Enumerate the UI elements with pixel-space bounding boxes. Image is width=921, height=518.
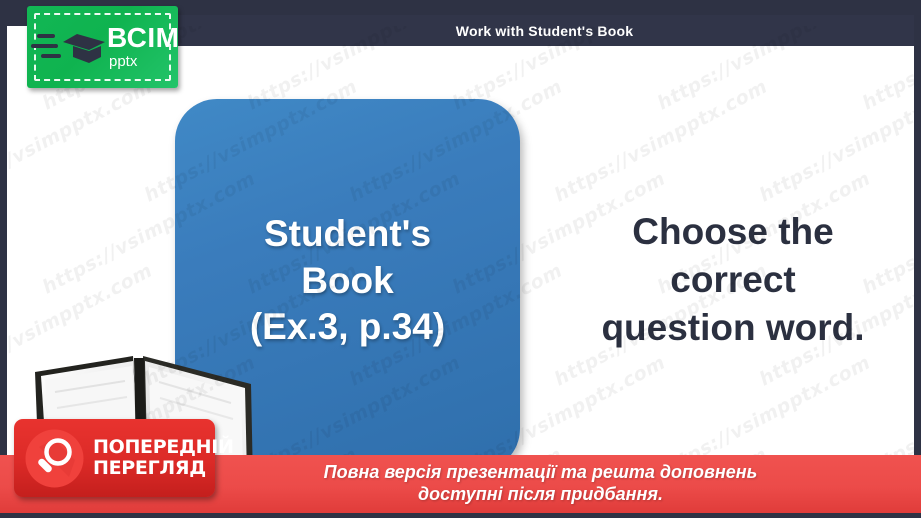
- watermark-text: https://vsimpptx.com: [756, 75, 914, 206]
- bottom-strip: [0, 513, 921, 518]
- card-line-3: (Ex.3, p.34): [250, 304, 445, 351]
- student-book-card-text: Student's Book (Ex.3, p.34): [250, 211, 445, 360]
- banner-line-2: доступні після придбання.: [324, 484, 758, 506]
- slide-frame: Student's Book (Ex.3, p.34) Choose the c…: [0, 0, 921, 518]
- card-line-1: Student's: [250, 211, 445, 258]
- watermark-text: https://vsimpptx.com: [7, 75, 156, 206]
- watermark-text: https://vsimpptx.com: [551, 75, 771, 206]
- prompt-line-3: question word.: [547, 304, 914, 352]
- preview-badge-labels: ПОПЕРЕДНІЙ ПЕРЕГЛЯД: [93, 437, 234, 478]
- graduation-cap-icon: [61, 30, 107, 66]
- slide-header-bar: Work with Student's Book: [175, 15, 914, 46]
- prompt-line-2: correct: [547, 256, 914, 304]
- preview-banner-text: Повна версія презентації та решта доповн…: [164, 462, 758, 506]
- slide-header-title: Work with Student's Book: [456, 23, 633, 39]
- logo-title: ВСІМ: [107, 24, 179, 52]
- logo-subtitle: pptx: [109, 54, 179, 69]
- prompt-line-1: Choose the: [547, 208, 914, 256]
- preview-badge[interactable]: ПОПЕРЕДНІЙ ПЕРЕГЛЯД: [14, 419, 215, 497]
- badge-line-1: ПОПЕРЕДНІЙ: [93, 437, 234, 458]
- badge-line-2: ПЕРЕГЛЯД: [93, 458, 234, 479]
- card-line-2: Book: [250, 258, 445, 305]
- logo-wordmark: ВСІМ pptx: [107, 24, 179, 69]
- bcim-pptx-logo[interactable]: ВСІМ pptx: [27, 6, 178, 88]
- banner-line-1: Повна версія презентації та решта доповн…: [324, 462, 758, 484]
- magnifier-icon: [25, 429, 84, 488]
- task-prompt: Choose the correct question word.: [547, 208, 914, 352]
